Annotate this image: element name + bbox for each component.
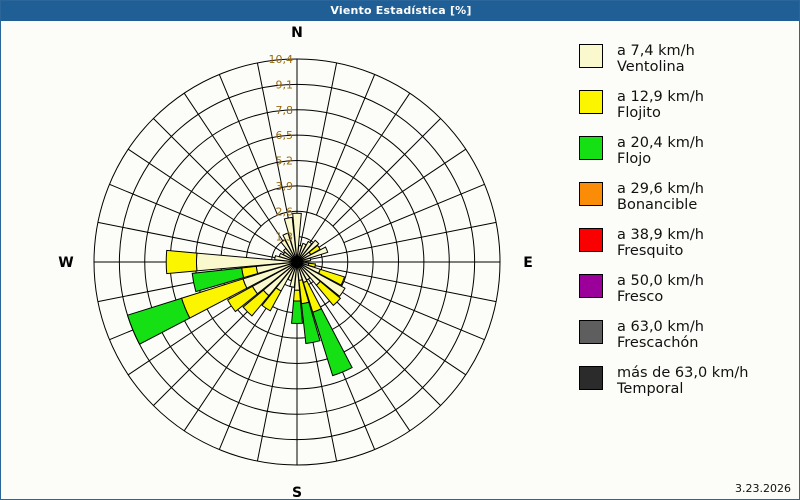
- legend-speed-label: a 38,9 km/h: [617, 227, 704, 243]
- wind-rose-window: Viento Estadística [%] 1,32,63,95,26,57,…: [0, 0, 800, 500]
- legend-item[interactable]: a 50,0 km/hFresco: [579, 273, 794, 314]
- legend-color-swatch: [579, 228, 603, 252]
- wind-rose-petal-segment: [166, 250, 197, 273]
- legend-label-group: a 50,0 km/hFresco: [617, 273, 704, 305]
- wind-rose-petal-segment: [294, 290, 301, 301]
- legend-speed-label: a 7,4 km/h: [617, 43, 695, 59]
- legend-speed-label: a 50,0 km/h: [617, 273, 704, 289]
- legend-color-swatch: [579, 366, 603, 390]
- legend-name-label: Fresquito: [617, 243, 704, 259]
- radial-tick-label: 5,2: [276, 155, 294, 168]
- grid-spoke-outer: [153, 118, 261, 226]
- legend-color-swatch: [579, 274, 603, 298]
- legend-name-label: Fresco: [617, 289, 704, 305]
- grid-spoke-outer: [333, 118, 441, 226]
- wind-rose-chart: 1,32,63,95,26,57,89,110,4 NESW: [1, 21, 561, 499]
- legend-color-swatch: [579, 182, 603, 206]
- radial-tick-label: 1,3: [276, 231, 294, 244]
- grid-spoke-outer: [109, 184, 250, 242]
- legend-item[interactable]: a 20,4 km/hFlojo: [579, 135, 794, 176]
- legend: a 7,4 km/hVentolinaa 12,9 km/hFlojitoa 2…: [579, 43, 794, 411]
- legend-name-label: Temporal: [617, 381, 748, 397]
- legend-speed-label: a 63,0 km/h: [617, 319, 704, 335]
- legend-name-label: Flojo: [617, 151, 704, 167]
- radial-tick-label: 9,1: [276, 78, 294, 91]
- legend-color-swatch: [579, 320, 603, 344]
- radial-tick-label: 3,9: [276, 180, 294, 193]
- legend-item[interactable]: a 29,6 km/hBonancible: [579, 181, 794, 222]
- legend-speed-label: a 20,4 km/h: [617, 135, 704, 151]
- grid-spoke-outer: [219, 309, 277, 450]
- wind-rose-petal-segment: [292, 301, 303, 324]
- window-titlebar: Viento Estadística [%]: [1, 1, 800, 21]
- legend-label-group: a 7,4 km/hVentolina: [617, 43, 695, 75]
- legend-label-group: más de 63,0 km/hTemporal: [617, 365, 748, 397]
- legend-item[interactable]: a 38,9 km/hFresquito: [579, 227, 794, 268]
- cardinal-label-e: E: [523, 255, 533, 271]
- radial-tick-label: 2,6: [276, 205, 294, 218]
- legend-name-label: Flojito: [617, 105, 704, 121]
- legend-speed-label: a 29,6 km/h: [617, 181, 704, 197]
- legend-label-group: a 63,0 km/hFrescachón: [617, 319, 704, 351]
- legend-color-swatch: [579, 90, 603, 114]
- grid-spoke-outer: [219, 74, 277, 215]
- legend-label-group: a 12,9 km/hFlojito: [617, 89, 704, 121]
- date-stamp: 3.23.2026: [735, 482, 791, 495]
- window-title: Viento Estadística [%]: [330, 1, 471, 21]
- cardinal-label-n: N: [291, 25, 303, 41]
- legend-color-swatch: [579, 44, 603, 68]
- grid-spoke-outer: [333, 298, 441, 406]
- radial-tick-label: 6,5: [276, 129, 294, 142]
- legend-label-group: a 38,9 km/hFresquito: [617, 227, 704, 259]
- legend-speed-label: más de 63,0 km/h: [617, 365, 748, 381]
- cardinal-label-w: W: [58, 255, 73, 271]
- legend-item[interactable]: a 63,0 km/hFrescachón: [579, 319, 794, 360]
- grid-spoke-outer: [344, 184, 485, 242]
- legend-item[interactable]: a 7,4 km/hVentolina: [579, 43, 794, 84]
- radial-tick-label: 7,8: [276, 104, 294, 117]
- wind-rose-petal-segment: [313, 309, 352, 376]
- wind-rose-petal-segment: [128, 298, 190, 344]
- cardinal-label-s: S: [292, 485, 302, 499]
- grid-spoke-outer: [316, 74, 374, 215]
- legend-item[interactable]: a 12,9 km/hFlojito: [579, 89, 794, 130]
- wind-rose-plot-area: 1,32,63,95,26,57,89,110,4 NESW: [1, 21, 561, 499]
- legend-item[interactable]: más de 63,0 km/hTemporal: [579, 365, 794, 406]
- radial-tick-label: 10,4: [269, 53, 294, 66]
- legend-speed-label: a 12,9 km/h: [617, 89, 704, 105]
- grid-spoke-outer: [344, 281, 485, 339]
- legend-name-label: Ventolina: [617, 59, 695, 75]
- legend-name-label: Frescachón: [617, 335, 704, 351]
- legend-label-group: a 20,4 km/hFlojo: [617, 135, 704, 167]
- legend-label-group: a 29,6 km/hBonancible: [617, 181, 704, 213]
- legend-color-swatch: [579, 136, 603, 160]
- legend-name-label: Bonancible: [617, 197, 704, 213]
- radial-tick-labels: 1,32,63,95,26,57,89,110,4: [269, 53, 294, 244]
